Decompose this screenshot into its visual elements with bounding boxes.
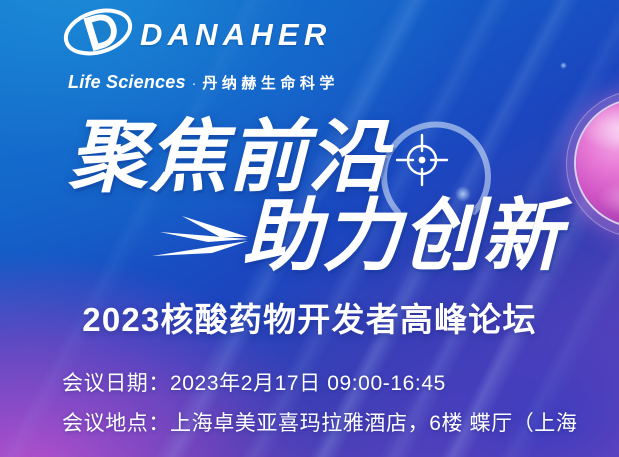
tagline-chinese: 丹纳赫生命科学 — [202, 72, 339, 93]
meeting-venue: 会议地点：上海卓美亚喜玛拉雅酒店，6楼 蝶厅（上海 — [62, 407, 578, 437]
headline-line-1: 聚焦前沿 — [68, 117, 388, 196]
headline-line-2: 助力创新 — [242, 196, 562, 275]
danaher-d-logo-icon — [62, 6, 134, 63]
glow-dot — [560, 62, 567, 69]
sphere-gloss-highlight — [576, 100, 619, 226]
crosshair-target-icon — [395, 133, 449, 192]
forward-arrow-icon — [152, 212, 256, 271]
brand-tagline: Life Sciences · 丹纳赫生命科学 — [68, 72, 339, 93]
danaher-wordmark: DANAHER — [140, 19, 331, 50]
sphere-outer-ring — [566, 90, 619, 238]
event-subtitle: 2023核酸药物开发者高峰论坛 — [0, 293, 619, 341]
meeting-date: 会议日期：2023年2月17日 09:00-16:45 — [62, 367, 446, 397]
logo-row: DANAHER — [62, 6, 331, 63]
pink-sphere — [576, 100, 619, 226]
danaher-logo-block: DANAHER Life Sciences · 丹纳赫生命科学 — [62, 6, 339, 93]
tagline-english: Life Sciences — [68, 72, 186, 93]
tagline-separator: · — [192, 75, 197, 91]
event-poster: DANAHER Life Sciences · 丹纳赫生命科学 聚焦前沿 — [0, 0, 619, 457]
